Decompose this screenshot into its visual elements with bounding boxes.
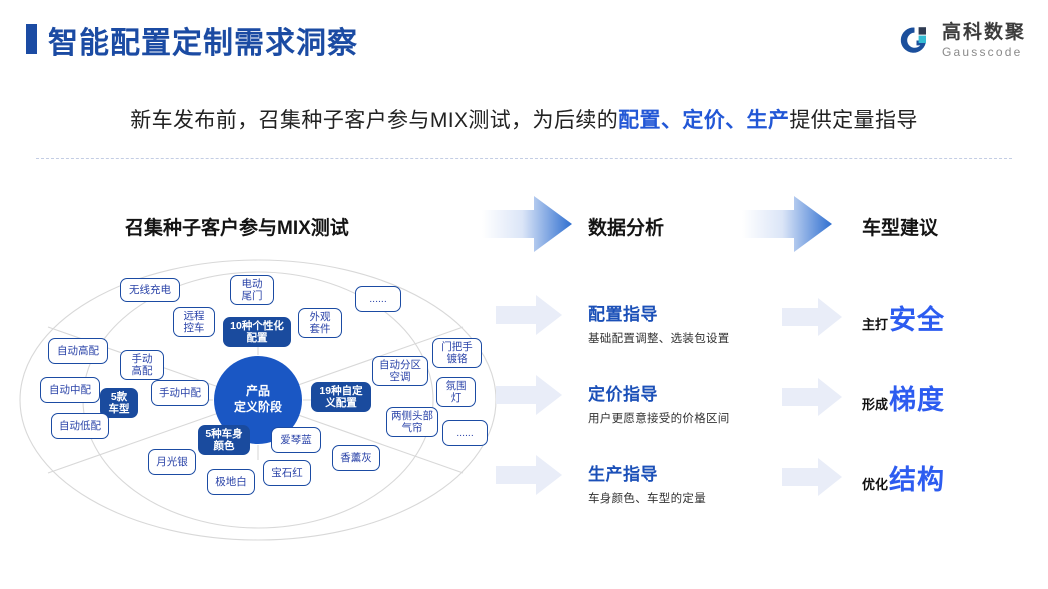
mindmap-node: 手动 高配 (120, 350, 164, 380)
mindmap-node: 自动分区 空调 (372, 356, 428, 386)
mindmap-node: 氛围 灯 (436, 377, 476, 407)
row-arrow-structure-out-icon (782, 458, 842, 496)
mindmap-node: 手动中配 (151, 380, 209, 406)
result-prefix: 主打 (862, 314, 888, 333)
mindmap-node: ...... (355, 286, 401, 312)
result-prefix: 优化 (862, 474, 888, 493)
result-item-safety: 主打 安全 (862, 298, 945, 337)
subtitle-highlight: 配置、定价、生产 (618, 109, 789, 132)
mindmap-node: 电动 尾门 (230, 275, 274, 305)
guidance-item-production: 生产指导 车身颜色、车型的定量 (588, 460, 706, 506)
brand-name-cn: 高科数聚 (942, 23, 1026, 42)
result-prefix: 形成 (862, 394, 888, 413)
row-arrow-pricing-in-icon (496, 375, 562, 415)
result-item-structure: 优化 结构 (862, 458, 945, 497)
mindmap-node: 宝石红 (263, 460, 311, 486)
slide-subtitle: 新车发布前，召集种子客户参与MIX测试，为后续的配置、定价、生产提供定量指导 (0, 104, 1048, 134)
mindmap-node: 10种个性化 配置 (223, 317, 291, 347)
slide-header: 智能配置定制需求洞察 高科数聚 Gausscode (0, 0, 1048, 78)
row-arrow-config-in-icon (496, 295, 562, 335)
brand-logo: 高科数聚 Gausscode (894, 18, 1026, 62)
mindmap-node: ...... (442, 420, 488, 446)
brand-logo-text: 高科数聚 Gausscode (942, 23, 1026, 58)
title-accent-bar (26, 24, 37, 54)
mindmap-node: 自动低配 (51, 413, 109, 439)
mindmap-node: 月光银 (148, 449, 196, 475)
guidance-subtitle: 用户更愿意接受的价格区间 (588, 410, 730, 426)
gausscode-logo-mark-icon (894, 24, 934, 56)
row-arrow-tier-out-icon (782, 378, 842, 416)
subtitle-part1: 新车发布前，召集种子客户参与MIX测试，为后续的 (130, 109, 618, 132)
column-heading-collect: 召集种子客户参与MIX测试 (125, 213, 349, 240)
guidance-title: 定价指导 (588, 380, 730, 405)
guidance-item-pricing: 定价指导 用户更愿意接受的价格区间 (588, 380, 730, 426)
column-heading-analysis: 数据分析 (588, 213, 664, 240)
guidance-item-config: 配置指导 基础配置调整、选装包设置 (588, 300, 730, 346)
section-divider (36, 158, 1012, 159)
mindmap-node: 极地白 (207, 469, 255, 495)
guidance-title: 生产指导 (588, 460, 706, 485)
mindmap-node: 远程 控车 (173, 307, 215, 337)
subtitle-part2: 提供定量指导 (789, 109, 917, 132)
result-keyword: 安全 (889, 298, 945, 337)
brand-name-en: Gausscode (942, 46, 1026, 58)
result-item-tier: 形成 梯度 (862, 378, 945, 417)
flow-arrow-1-icon (482, 196, 572, 252)
page-title: 智能配置定制需求洞察 (48, 18, 358, 62)
mindmap-node: 门把手 镀铬 (432, 338, 482, 368)
row-arrow-safety-out-icon (782, 298, 842, 336)
mindmap-node: 5种车身 颜色 (198, 425, 250, 455)
row-arrow-production-in-icon (496, 455, 562, 495)
mindmap-node: 外观 套件 (298, 308, 342, 338)
mindmap-node: 自动高配 (48, 338, 108, 364)
slide-root: 智能配置定制需求洞察 高科数聚 Gausscode 新车发布前，召集种子客户参与… (0, 0, 1048, 589)
guidance-subtitle: 车身颜色、车型的定量 (588, 490, 706, 506)
mindmap-node: 无线充电 (120, 278, 180, 302)
result-keyword: 梯度 (889, 378, 945, 417)
result-keyword: 结构 (889, 458, 945, 497)
mindmap-node: 爱琴蓝 (271, 427, 321, 453)
mindmap-diagram: 产品 定义阶段 无线充电电动 尾门......远程 控车10种个性化 配置外观 … (8, 255, 508, 545)
mindmap-node: 香薰灰 (332, 445, 380, 471)
column-heading-recommendation: 车型建议 (862, 213, 938, 240)
guidance-title: 配置指导 (588, 300, 730, 325)
flow-arrow-2-icon (742, 196, 832, 252)
mindmap-node: 两侧头部 气帘 (386, 407, 438, 437)
mindmap-node: 19种自定 义配置 (311, 382, 371, 412)
guidance-subtitle: 基础配置调整、选装包设置 (588, 330, 730, 346)
mindmap-node: 自动中配 (40, 377, 100, 403)
